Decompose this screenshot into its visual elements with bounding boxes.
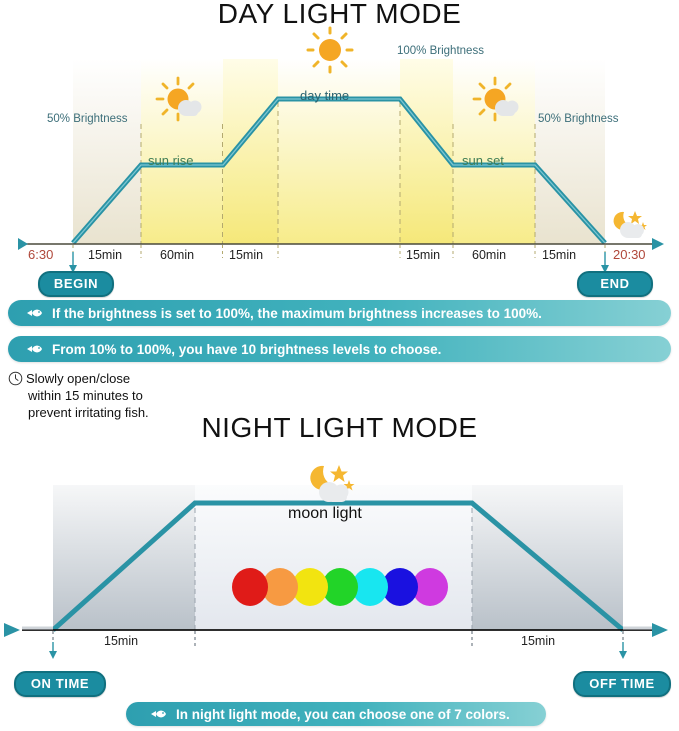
- brightness-top-label: 100% Brightness: [397, 45, 484, 57]
- banner-text: From 10% to 100%, you have 10 brightness…: [52, 342, 441, 357]
- brightness-left-label: 50% Brightness: [47, 113, 128, 125]
- night-color-swatches: [232, 568, 442, 606]
- clock-icon: [8, 371, 23, 386]
- moon-light-label: moon light: [288, 505, 362, 523]
- banner-text: If the brightness is set to 100%, the ma…: [52, 306, 542, 321]
- night-duration-label-2: 15min: [521, 634, 555, 648]
- begin-end-arrows: [69, 252, 609, 273]
- note-line-2: within 15 minutes to: [8, 387, 188, 404]
- banner-night-colors: In night light mode, you can choose one …: [126, 702, 546, 726]
- night-chart-svg: [0, 460, 679, 660]
- sun-set-label: sun set: [462, 153, 504, 168]
- off-time-button[interactable]: OFF TIME: [573, 671, 671, 697]
- banner-text: In night light mode, you can choose one …: [176, 707, 510, 722]
- moon-stars-cloud-icon: [614, 211, 647, 238]
- fish-icon: [26, 343, 43, 355]
- day-time-label: day time: [300, 88, 349, 103]
- sun-rise-label: sun rise: [148, 153, 194, 168]
- night-duration-label-1: 15min: [104, 634, 138, 648]
- end-time-label: 20:30: [613, 247, 646, 262]
- on-time-button[interactable]: ON TIME: [14, 671, 106, 697]
- begin-button[interactable]: BEGIN: [38, 271, 114, 297]
- fish-icon: [26, 307, 43, 319]
- night-mode-title: NIGHT LIGHT MODE: [0, 412, 679, 444]
- duration-label-6: 15min: [542, 248, 576, 262]
- day-chart-svg: [0, 24, 679, 274]
- brightness-right-label: 50% Brightness: [538, 113, 619, 125]
- duration-label-4: 15min: [406, 248, 440, 262]
- banner-brightness-levels: From 10% to 100%, you have 10 brightness…: [8, 336, 671, 362]
- note-line-1: Slowly open/close: [8, 370, 188, 387]
- day-light-chart: 50% Brightness 100% Brightness 50% Brigh…: [0, 24, 679, 294]
- banner-brightness-max: If the brightness is set to 100%, the ma…: [8, 300, 671, 326]
- fish-icon: [150, 708, 167, 720]
- end-button[interactable]: END: [577, 271, 653, 297]
- duration-label-2: 60min: [160, 248, 194, 262]
- duration-label-3: 15min: [229, 248, 263, 262]
- color-swatch-red[interactable]: [232, 568, 268, 606]
- duration-label-1: 15min: [88, 248, 122, 262]
- duration-label-5: 60min: [472, 248, 506, 262]
- start-time-label: 6:30: [28, 247, 53, 262]
